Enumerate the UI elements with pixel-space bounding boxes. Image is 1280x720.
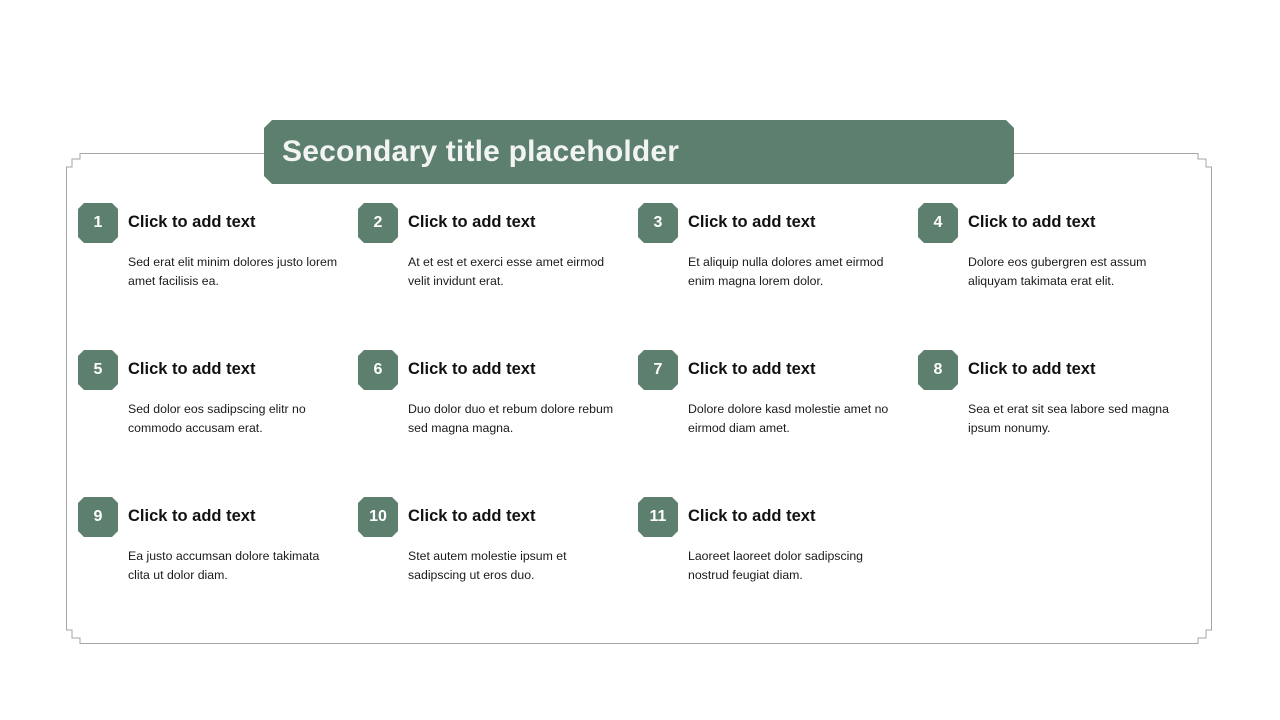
item-number-badge: 1 — [78, 203, 118, 243]
item-heading[interactable]: Click to add text — [128, 507, 344, 527]
item-number-badge: 11 — [638, 497, 678, 537]
item-heading[interactable]: Click to add text — [688, 507, 904, 527]
item-body[interactable]: At et est et exerci esse amet eirmod vel… — [408, 253, 624, 291]
item-heading[interactable]: Click to add text — [128, 360, 344, 380]
list-item[interactable]: 3 Click to add text Et aliquip nulla dol… — [638, 203, 918, 350]
item-heading[interactable]: Click to add text — [408, 507, 624, 527]
list-item[interactable]: 11 Click to add text Laoreet laoreet dol… — [638, 497, 918, 644]
list-item[interactable]: 10 Click to add text Stet autem molestie… — [358, 497, 638, 644]
list-item[interactable]: 7 Click to add text Dolore dolore kasd m… — [638, 350, 918, 497]
items-grid: 1 Click to add text Sed erat elit minim … — [78, 203, 1198, 644]
item-heading[interactable]: Click to add text — [968, 213, 1184, 233]
secondary-title-banner[interactable]: Secondary title placeholder — [264, 120, 1014, 184]
item-body[interactable]: Ea justo accumsan dolore takimata clita … — [128, 547, 344, 585]
item-body[interactable]: Sed dolor eos sadipscing elitr no commod… — [128, 400, 344, 438]
item-body[interactable]: Et aliquip nulla dolores amet eirmod eni… — [688, 253, 904, 291]
item-number-badge: 2 — [358, 203, 398, 243]
item-body[interactable]: Sea et erat sit sea labore sed magna ips… — [968, 400, 1184, 438]
item-number-badge: 3 — [638, 203, 678, 243]
item-number-badge: 8 — [918, 350, 958, 390]
item-heading[interactable]: Click to add text — [968, 360, 1184, 380]
item-body[interactable]: Stet autem molestie ipsum et sadipscing … — [408, 547, 624, 585]
item-number-badge: 6 — [358, 350, 398, 390]
list-item[interactable]: 6 Click to add text Duo dolor duo et reb… — [358, 350, 638, 497]
item-number-badge: 7 — [638, 350, 678, 390]
item-body[interactable]: Sed erat elit minim dolores justo lorem … — [128, 253, 344, 291]
item-number-badge: 9 — [78, 497, 118, 537]
item-heading[interactable]: Click to add text — [688, 213, 904, 233]
item-heading[interactable]: Click to add text — [128, 213, 344, 233]
item-body[interactable]: Duo dolor duo et rebum dolore rebum sed … — [408, 400, 624, 438]
item-heading[interactable]: Click to add text — [408, 360, 624, 380]
list-item[interactable]: 2 Click to add text At et est et exerci … — [358, 203, 638, 350]
list-item[interactable]: 5 Click to add text Sed dolor eos sadips… — [78, 350, 358, 497]
list-item[interactable]: 1 Click to add text Sed erat elit minim … — [78, 203, 358, 350]
item-number-badge: 4 — [918, 203, 958, 243]
item-heading[interactable]: Click to add text — [688, 360, 904, 380]
list-item[interactable]: 9 Click to add text Ea justo accumsan do… — [78, 497, 358, 644]
item-body[interactable]: Laoreet laoreet dolor sadipscing nostrud… — [688, 547, 904, 585]
item-number-badge: 5 — [78, 350, 118, 390]
item-body[interactable]: Dolore dolore kasd molestie amet no eirm… — [688, 400, 904, 438]
item-heading[interactable]: Click to add text — [408, 213, 624, 233]
list-item[interactable]: 4 Click to add text Dolore eos gubergren… — [918, 203, 1198, 350]
slide-canvas: Secondary title placeholder 1 Click to a… — [0, 0, 1280, 720]
list-item[interactable]: 8 Click to add text Sea et erat sit sea … — [918, 350, 1198, 497]
item-number-badge: 10 — [358, 497, 398, 537]
page-title: Secondary title placeholder — [264, 137, 679, 167]
item-body[interactable]: Dolore eos gubergren est assum aliquyam … — [968, 253, 1184, 291]
